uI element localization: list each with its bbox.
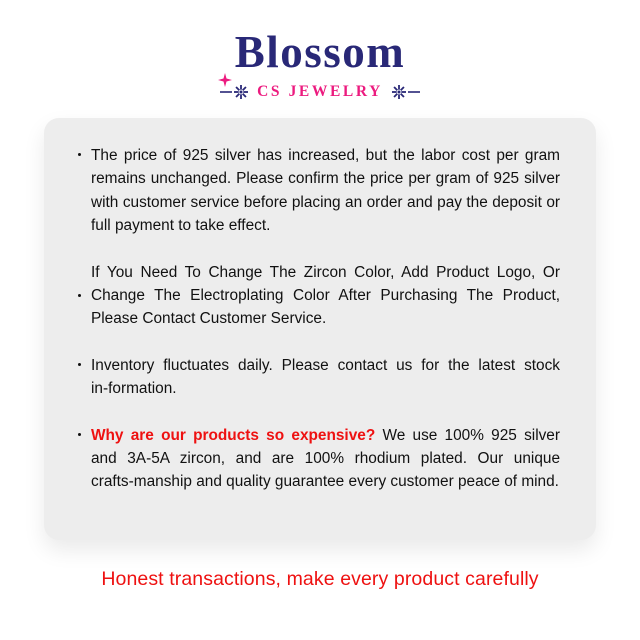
notice-card: The price of 925 silver has increased, b… bbox=[44, 118, 596, 540]
notice-list: The price of 925 silver has increased, b… bbox=[78, 144, 560, 494]
snowflake-ornament-icon-right bbox=[390, 84, 420, 100]
brand-name-text: Blossom bbox=[235, 27, 406, 77]
footer-slogan: Honest transactions, make every product … bbox=[0, 568, 640, 591]
list-item: Inventory fluctuates daily. Please conta… bbox=[78, 354, 560, 401]
bullet-icon bbox=[78, 433, 81, 436]
notice-text: If You Need To Change The Zircon Color, … bbox=[91, 264, 560, 328]
notice-highlight-text: Why are our products so expensive? bbox=[91, 427, 375, 444]
bullet-icon bbox=[78, 153, 81, 156]
brand-tagline-row: CS JEWELRY bbox=[0, 83, 640, 101]
brand-tagline-text: CS JEWELRY bbox=[257, 83, 383, 101]
bullet-icon bbox=[78, 294, 81, 297]
brand-wordmark: Blossom bbox=[235, 30, 406, 76]
list-item: The price of 925 silver has increased, b… bbox=[78, 144, 560, 238]
brand-header: Blossom CS JEWELRY bbox=[0, 30, 640, 101]
list-item: Why are our products so expensive? We us… bbox=[78, 424, 560, 494]
bullet-icon bbox=[78, 363, 81, 366]
notice-text: The price of 925 silver has increased, b… bbox=[91, 147, 560, 234]
list-item: If You Need To Change The Zircon Color, … bbox=[78, 261, 560, 331]
sparkle-diamond-icon bbox=[218, 50, 232, 64]
notice-text: Inventory fluctuates daily. Please conta… bbox=[91, 357, 560, 397]
